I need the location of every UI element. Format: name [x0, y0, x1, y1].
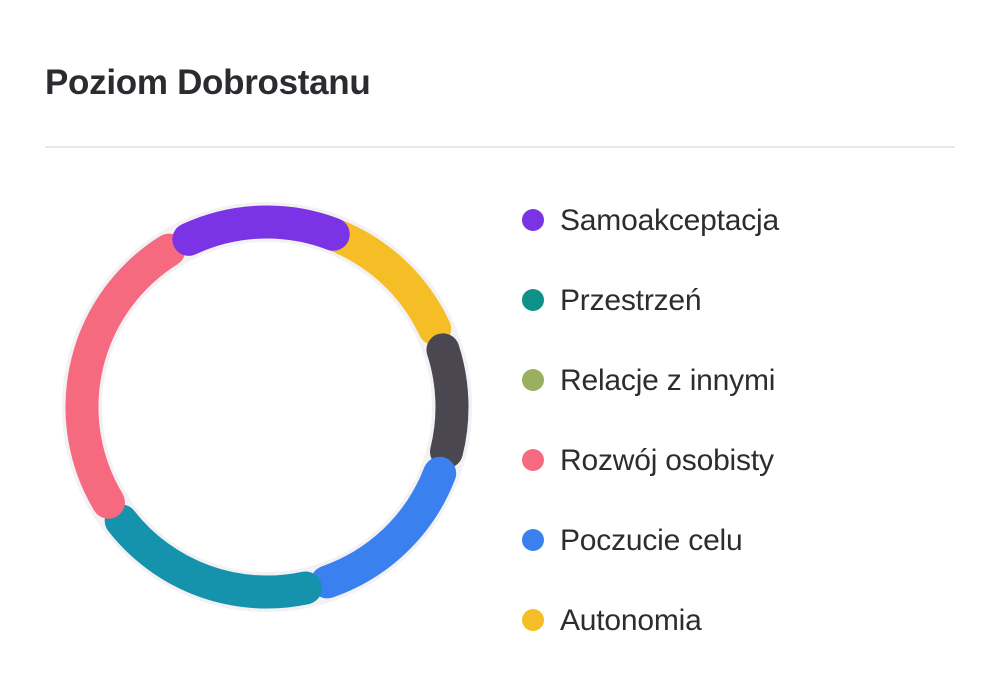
legend-dot-icon — [522, 289, 544, 311]
chart-legend: Samoakceptacja Przestrzeń Relacje z inny… — [518, 180, 968, 660]
header-divider — [45, 146, 955, 148]
legend-dot-icon — [522, 529, 544, 551]
legend-item-rozwoj-osobisty[interactable]: Rozwój osobisty — [518, 420, 968, 500]
card-header: Poziom Dobrostanu — [45, 52, 955, 114]
legend-item-label: Przestrzeń — [560, 284, 701, 317]
page-title: Poziom Dobrostanu — [45, 64, 370, 103]
legend-item-label: Relacje z innymi — [560, 364, 775, 397]
legend-dot-icon — [522, 449, 544, 471]
legend-item-samoakceptacja[interactable]: Samoakceptacja — [518, 180, 968, 260]
donut-chart-svg — [45, 175, 490, 645]
legend-item-relacje-z-innymi[interactable]: Relacje z innymi — [518, 340, 968, 420]
legend-dot-icon — [522, 369, 544, 391]
legend-dot-icon — [522, 209, 544, 231]
legend-item-autonomia[interactable]: Autonomia — [518, 580, 968, 660]
donut-segments-group — [82, 222, 452, 592]
wellbeing-chart-card: Poziom Dobrostanu Samoakceptacja Przestr… — [0, 0, 1000, 694]
legend-item-label: Rozwój osobisty — [560, 444, 774, 477]
legend-item-przestrzen[interactable]: Przestrzeń — [518, 260, 968, 340]
legend-item-label: Autonomia — [560, 604, 702, 637]
legend-item-poczucie-celu[interactable]: Poczucie celu — [518, 500, 968, 580]
donut-chart-area — [45, 175, 490, 645]
donut-segment[interactable] — [189, 222, 333, 239]
legend-item-label: Poczucie celu — [560, 524, 743, 557]
donut-segment[interactable] — [443, 350, 452, 452]
donut-segment[interactable] — [82, 250, 169, 502]
donut-segment[interactable] — [121, 521, 305, 592]
legend-dot-icon — [522, 609, 544, 631]
legend-item-label: Samoakceptacja — [560, 204, 779, 237]
